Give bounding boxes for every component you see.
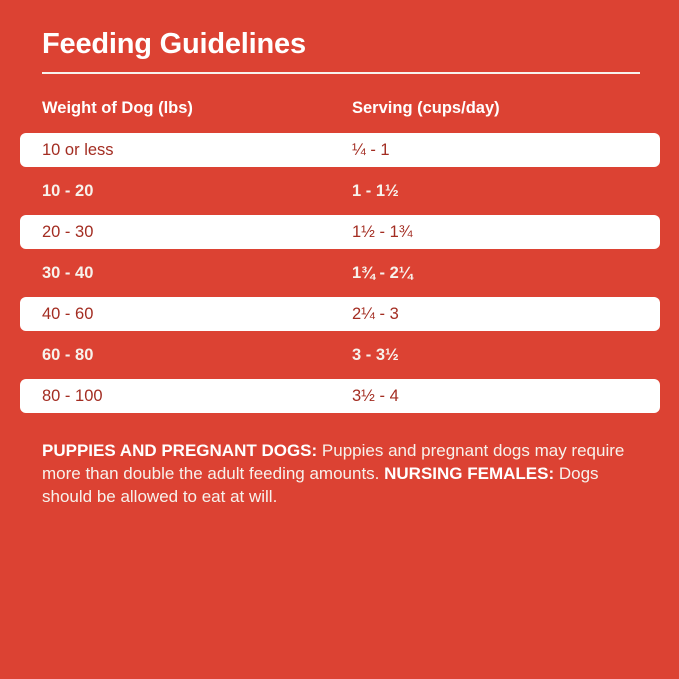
feeding-footnote: PUPPIES AND PREGNANT DOGS: Puppies and p…: [42, 440, 640, 508]
table-row: 80 - 100 3½ - 4: [20, 379, 660, 413]
table-column-headers: Weight of Dog (lbs) Serving (cups/day): [0, 99, 679, 123]
cell-weight: 20 - 30: [42, 224, 93, 241]
column-header-serving: Serving (cups/day): [352, 99, 500, 118]
footnote-label-nursing: NURSING FEMALES:: [384, 464, 554, 483]
cell-serving: 3 - 3½: [352, 347, 399, 364]
cell-serving: 1¾ - 2¼: [352, 265, 413, 282]
cell-weight: 60 - 80: [42, 347, 93, 364]
table-row: 10 - 20 1 - 1½: [0, 174, 679, 208]
title-divider: [42, 72, 640, 74]
cell-serving: 2¼ - 3: [352, 306, 399, 323]
cell-weight: 10 or less: [42, 142, 114, 159]
table-row: 60 - 80 3 - 3½: [0, 338, 679, 372]
cell-serving: 1½ - 1¾: [352, 224, 413, 241]
cell-weight: 30 - 40: [42, 265, 93, 282]
cell-weight: 40 - 60: [42, 306, 93, 323]
cell-weight: 10 - 20: [42, 183, 93, 200]
cell-weight: 80 - 100: [42, 388, 103, 405]
table-row: 30 - 40 1¾ - 2¼: [0, 256, 679, 290]
table-row: 40 - 60 2¼ - 3: [20, 297, 660, 331]
footnote-label-puppies: PUPPIES AND PREGNANT DOGS:: [42, 441, 317, 460]
column-header-weight: Weight of Dog (lbs): [42, 99, 193, 118]
feeding-table-body: 10 or less ¼ - 1 10 - 20 1 - 1½ 20 - 30 …: [0, 133, 679, 420]
page-title: Feeding Guidelines: [42, 30, 306, 59]
table-row: 10 or less ¼ - 1: [20, 133, 660, 167]
cell-serving: 1 - 1½: [352, 183, 399, 200]
cell-serving: ¼ - 1: [352, 142, 390, 159]
feeding-guidelines-panel: Feeding Guidelines Weight of Dog (lbs) S…: [0, 0, 679, 679]
table-row: 20 - 30 1½ - 1¾: [20, 215, 660, 249]
cell-serving: 3½ - 4: [352, 388, 399, 405]
